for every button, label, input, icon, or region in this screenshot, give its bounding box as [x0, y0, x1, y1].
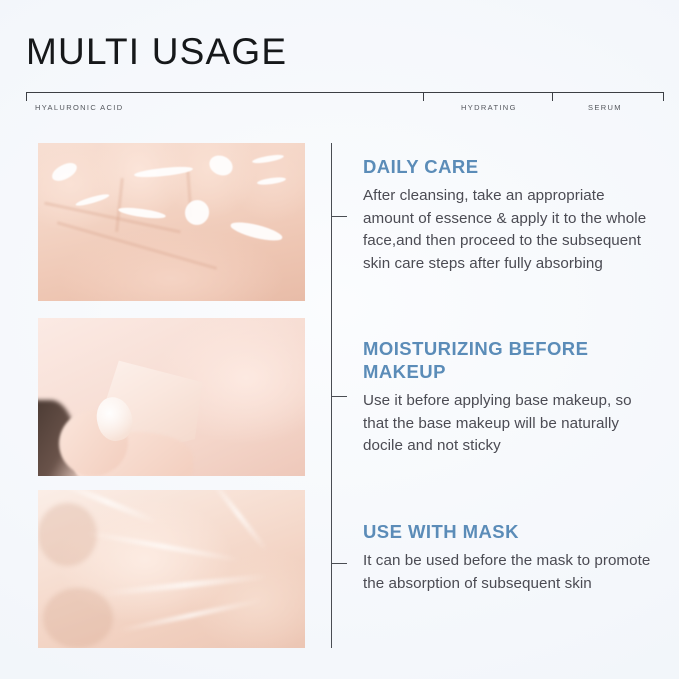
usage-block-daily-care: DAILY CARE After cleansing, take an appr…	[363, 155, 655, 275]
connector-tick-3	[331, 563, 347, 564]
block-body-use-with-mask: It can be used before the mask to promot…	[363, 550, 655, 595]
palm-crease-b	[57, 221, 217, 270]
mask-fold-d	[119, 598, 261, 633]
connector-tick-2	[331, 396, 347, 397]
divider-tick-start	[26, 92, 27, 101]
usage-block-use-with-mask: USE WITH MASK It can be used before the …	[363, 520, 655, 595]
divider-tick-1	[423, 92, 424, 101]
mask-fold-b	[87, 530, 240, 562]
photo-makeup-sponge-on-skin	[38, 318, 305, 476]
block-heading-daily-care: DAILY CARE	[363, 155, 655, 178]
mask-fold-e	[208, 490, 268, 552]
divider-label-serum: SERUM	[588, 103, 622, 112]
gel-highlight-9	[230, 219, 285, 244]
photo-sheet-mask-over-hand	[38, 490, 305, 648]
connector-tick-1	[331, 216, 347, 217]
block-body-daily-care: After cleansing, take an appropriate amo…	[363, 185, 655, 275]
divider-line	[26, 92, 664, 93]
gel-highlight-2	[75, 192, 110, 208]
divider-tick-end	[663, 92, 664, 101]
divider-label-hyaluronic-acid: HYALURONIC ACID	[35, 103, 123, 112]
gel-highlight-1	[50, 160, 80, 185]
photo-1-surface	[38, 143, 305, 301]
photo-2-surface	[38, 318, 305, 476]
photo-3-surface	[38, 490, 305, 648]
divider-label-hydrating: HYDRATING	[461, 103, 517, 112]
gel-highlight-6	[206, 152, 236, 179]
page-title: MULTI USAGE	[26, 30, 287, 74]
gel-highlight-4	[134, 165, 193, 179]
usage-block-moisturizing-before-makeup: MOISTURIZING BEFORE MAKEUP Use it before…	[363, 337, 655, 458]
gel-highlight-5	[182, 197, 213, 228]
infographic-page: MULTI USAGE HYALURONIC ACID HYDRATING SE…	[0, 0, 679, 679]
gel-highlight-7	[251, 153, 284, 165]
divider-tick-2	[552, 92, 553, 101]
mask-fold-c	[102, 573, 267, 596]
header-divider: HYALURONIC ACID HYDRATING SERUM	[26, 92, 664, 118]
gel-highlight-8	[257, 176, 287, 186]
mask-shadow-b	[43, 588, 112, 648]
block-heading-moisturizing-before-makeup: MOISTURIZING BEFORE MAKEUP	[363, 337, 655, 383]
block-heading-use-with-mask: USE WITH MASK	[363, 520, 655, 543]
block-body-moisturizing-before-makeup: Use it before applying base makeup, so t…	[363, 390, 655, 458]
palm-crease-c	[115, 178, 124, 232]
photo-serum-gel-on-palm	[38, 143, 305, 301]
